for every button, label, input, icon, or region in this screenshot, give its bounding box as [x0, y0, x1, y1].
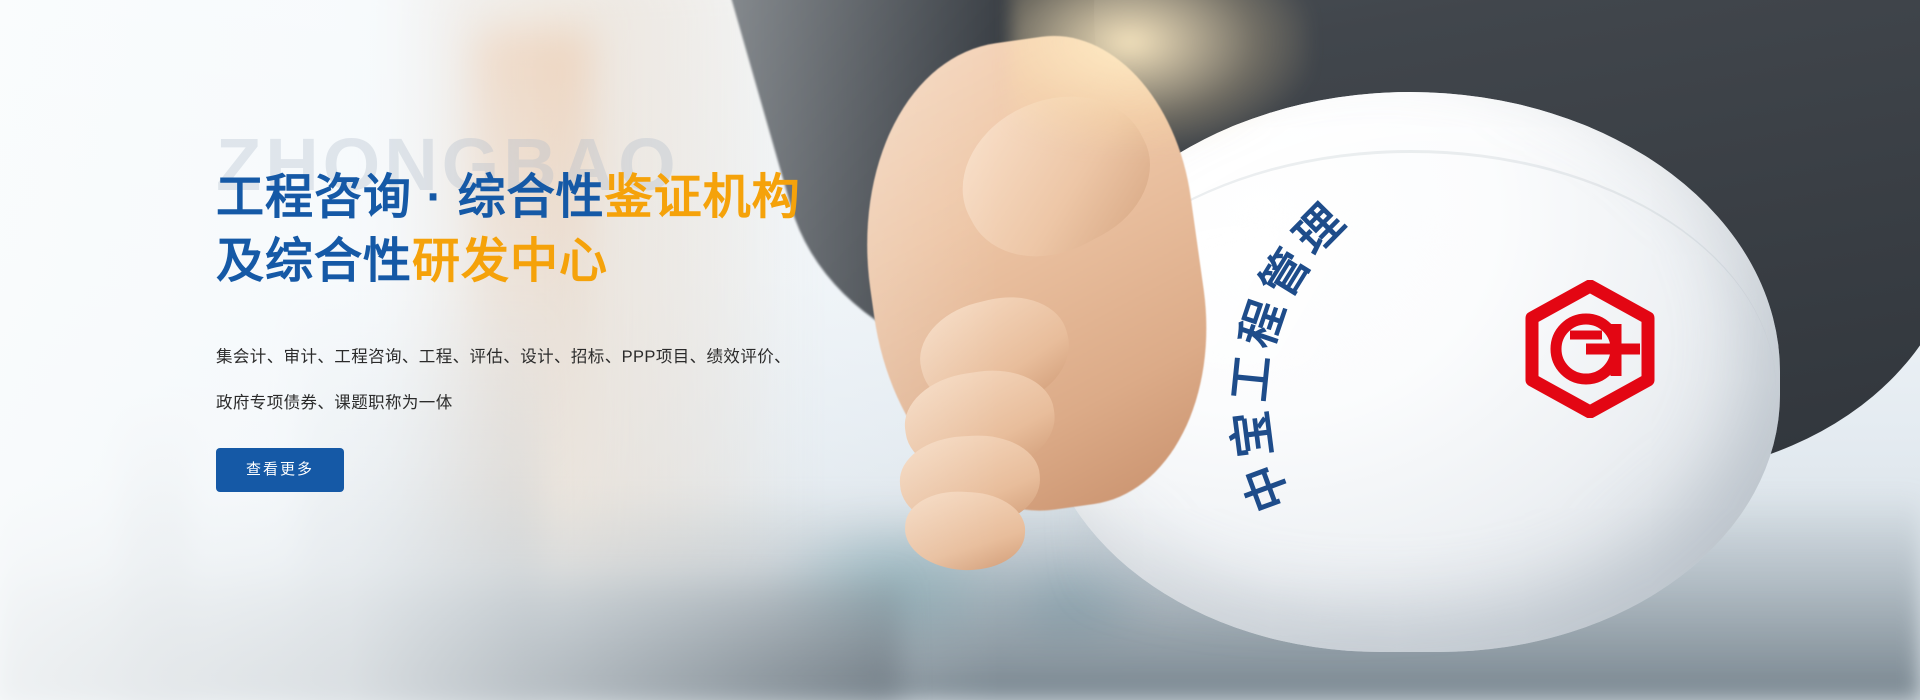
headline-line-2-orange: 研发中心: [412, 235, 608, 288]
hero-description-line-2: 政府专项债券、课题职称为一体: [216, 380, 936, 426]
hero-banner: 中宝工程管理 ZHONGBAO 工程咨询 · 综合性鉴证机构 及综合性研发中心: [0, 0, 1920, 700]
headline-line-2: 及综合性研发中心: [216, 230, 936, 294]
headline-line-1: 工程咨询 · 综合性鉴证机构: [216, 166, 936, 230]
headline-line-1-blue: 工程咨询 · 综合性: [216, 171, 605, 224]
view-more-button[interactable]: 查看更多: [216, 448, 344, 492]
headline-line-1-orange: 鉴证机构: [605, 171, 801, 224]
page-title: 工程咨询 · 综合性鉴证机构 及综合性研发中心: [216, 166, 936, 294]
zhongbao-hexagon-logo-icon: [1524, 280, 1656, 418]
hero-description: 集会计、审计、工程咨询、工程、评估、设计、招标、PPP项目、绩效评价、 政府专项…: [216, 334, 936, 426]
hero-content: ZHONGBAO 工程咨询 · 综合性鉴证机构 及综合性研发中心 集会计、审计、…: [216, 110, 936, 492]
hero-description-line-1: 集会计、审计、工程咨询、工程、评估、设计、招标、PPP项目、绩效评价、: [216, 334, 936, 380]
background-ground-bar: [0, 580, 900, 700]
svg-text:中宝工程管理: 中宝工程管理: [1223, 190, 1358, 518]
headline-line-2-blue: 及综合性: [216, 235, 412, 288]
sleeve-highlight: [1010, 0, 1310, 150]
